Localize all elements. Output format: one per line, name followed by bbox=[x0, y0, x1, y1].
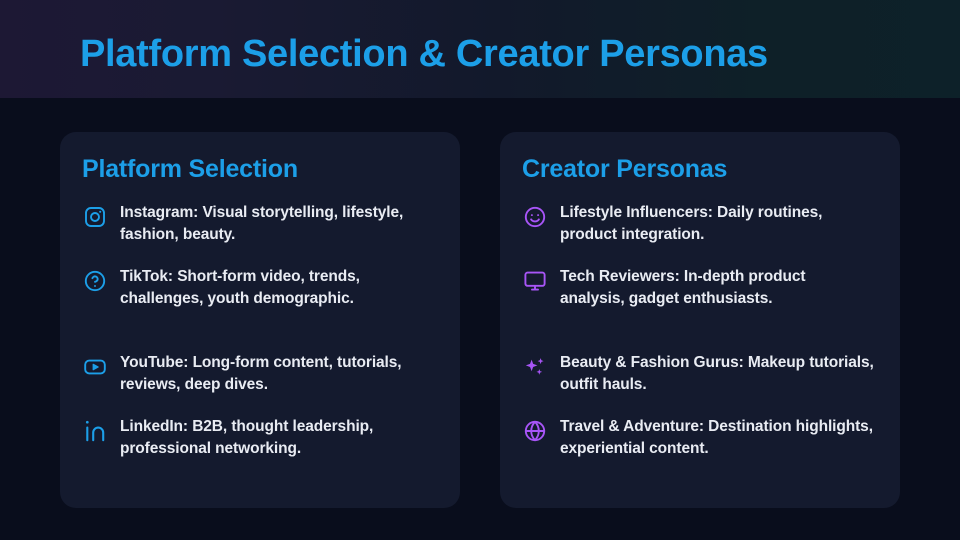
bullet-list-platform-selection: Instagram: Visual storytelling, lifestyl… bbox=[82, 202, 434, 460]
globe-icon bbox=[522, 418, 548, 444]
slide: Platform Selection & Creator Personas Pl… bbox=[0, 0, 960, 540]
instagram-icon bbox=[82, 204, 108, 230]
list-item: Travel & Adventure: Destination highligh… bbox=[522, 416, 874, 460]
bullet-list-creator-personas: Lifestyle Influencers: Daily routines, p… bbox=[522, 202, 874, 460]
list-item-label: Instagram: Visual storytelling, lifestyl… bbox=[120, 202, 434, 246]
smiley-face-icon bbox=[522, 204, 548, 230]
list-item-label: YouTube: Long-form content, tutorials, r… bbox=[120, 352, 434, 396]
sparkles-icon bbox=[522, 354, 548, 380]
list-item: Lifestyle Influencers: Daily routines, p… bbox=[522, 202, 874, 246]
list-item-label: TikTok: Short-form video, trends, challe… bbox=[120, 266, 434, 310]
panel-title-platform-selection: Platform Selection bbox=[82, 154, 434, 184]
panel-title-creator-personas: Creator Personas bbox=[522, 154, 874, 184]
list-item: Tech Reviewers: In-depth product analysi… bbox=[522, 266, 874, 310]
list-item-label: Lifestyle Influencers: Daily routines, p… bbox=[560, 202, 874, 246]
list-item-label: LinkedIn: B2B, thought leadership, profe… bbox=[120, 416, 434, 460]
monitor-icon bbox=[522, 268, 548, 294]
list-item: TikTok: Short-form video, trends, challe… bbox=[82, 266, 434, 310]
list-item-label: Beauty & Fashion Gurus: Makeup tutorials… bbox=[560, 352, 874, 396]
panel-platform-selection: Platform Selection Instagram: Visual sto… bbox=[60, 132, 460, 508]
list-item: Beauty & Fashion Gurus: Makeup tutorials… bbox=[522, 352, 874, 396]
panel-creator-personas: Creator Personas Lifestyle Influencers: … bbox=[500, 132, 900, 508]
linkedin-icon bbox=[82, 418, 108, 444]
youtube-icon bbox=[82, 354, 108, 380]
list-item-label: Tech Reviewers: In-depth product analysi… bbox=[560, 266, 874, 310]
page-title: Platform Selection & Creator Personas bbox=[80, 30, 840, 78]
question-circle-icon bbox=[82, 268, 108, 294]
list-item-label: Travel & Adventure: Destination highligh… bbox=[560, 416, 874, 460]
list-item: Instagram: Visual storytelling, lifestyl… bbox=[82, 202, 434, 246]
list-item: YouTube: Long-form content, tutorials, r… bbox=[82, 352, 434, 396]
list-item: LinkedIn: B2B, thought leadership, profe… bbox=[82, 416, 434, 460]
